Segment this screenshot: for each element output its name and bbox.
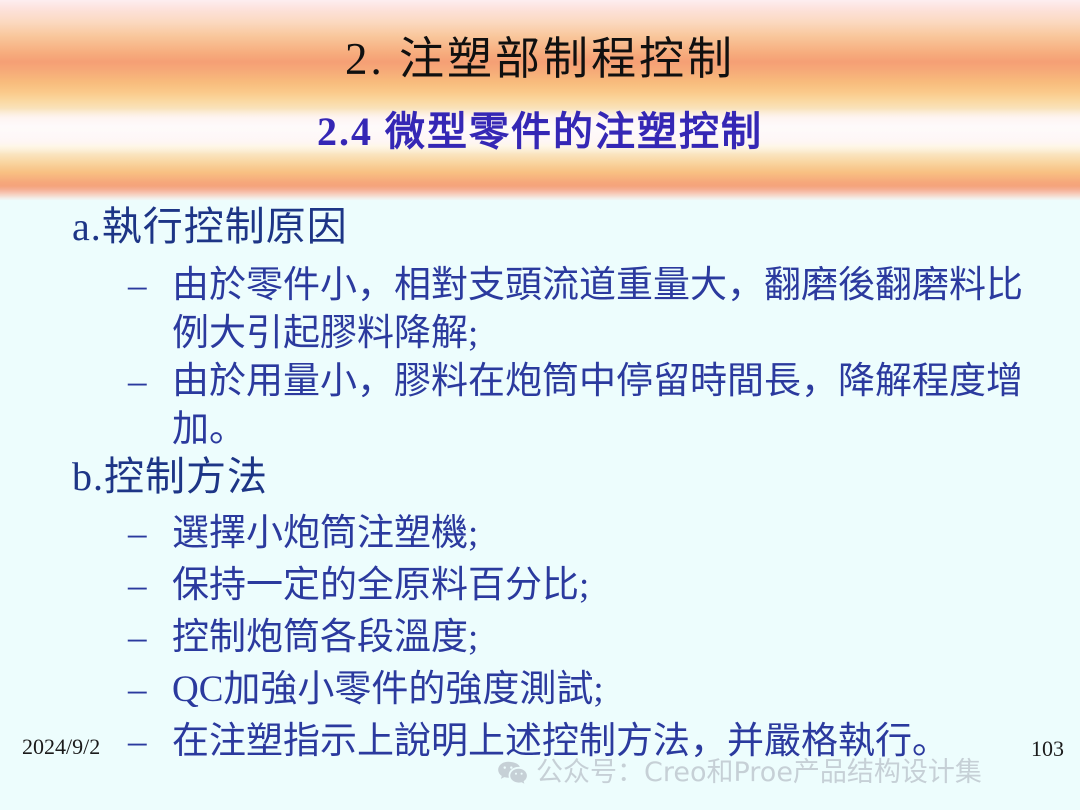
bullet-dash-icon: – — [128, 718, 162, 766]
section-marker-a: a. — [72, 204, 102, 249]
bullet-a-2: – 由於用量小，膠料在炮筒中停留時間長，降解程度增加。 — [128, 358, 1048, 454]
bullet-dash-icon: – — [128, 510, 162, 558]
bullet-text: QC加強小零件的強度測試; — [172, 666, 1048, 714]
bullet-b-2: – 保持一定的全原料百分比; — [128, 562, 1048, 610]
bullet-a-1: – 由於零件小，相對支頭流道重量大，翻磨後翻磨料比例大引起膠料降解; — [128, 262, 1048, 358]
bullet-text: 控制炮筒各段溫度; — [172, 614, 1048, 662]
slide-subtitle: 2.4 微型零件的注塑控制 — [0, 108, 1080, 156]
bullet-b-4: – QC加強小零件的強度測試; — [128, 666, 1048, 714]
footer-date: 2024/9/2 — [22, 734, 100, 760]
bullet-dash-icon: – — [128, 614, 162, 662]
section-title-a: 執行控制原因 — [102, 204, 348, 249]
bullet-b-3: – 控制炮筒各段溫度; — [128, 614, 1048, 662]
section-title-b: 控制方法 — [104, 454, 268, 499]
bullet-text: 由於零件小，相對支頭流道重量大，翻磨後翻磨料比例大引起膠料降解; — [172, 262, 1048, 358]
bullet-text: 選擇小炮筒注塑機; — [172, 510, 1048, 558]
slide-canvas: 2. 注塑部制程控制 2.4 微型零件的注塑控制 a.執行控制原因 – 由於零件… — [0, 0, 1080, 810]
section-heading-a: a.執行控制原因 — [72, 204, 348, 250]
slide-body: a.執行控制原因 – 由於零件小，相對支頭流道重量大，翻磨後翻磨料比例大引起膠料… — [0, 200, 1080, 810]
section-heading-b: b.控制方法 — [72, 454, 268, 500]
bullet-text: 在注塑指示上說明上述控制方法，并嚴格執行。 — [172, 718, 1048, 766]
bullet-b-5: – 在注塑指示上說明上述控制方法，并嚴格執行。 — [128, 718, 1048, 766]
bullet-dash-icon: – — [128, 562, 162, 610]
footer-page-number: 103 — [1031, 736, 1064, 762]
slide-title: 2. 注塑部制程控制 — [0, 32, 1080, 86]
bullet-text: 保持一定的全原料百分比; — [172, 562, 1048, 610]
bullet-dash-icon: – — [128, 358, 162, 406]
header-gradient-band — [0, 0, 1080, 200]
bullet-b-1: – 選擇小炮筒注塑機; — [128, 510, 1048, 558]
section-marker-b: b. — [72, 454, 104, 499]
bullet-text: 由於用量小，膠料在炮筒中停留時間長，降解程度增加。 — [172, 358, 1048, 454]
bullet-dash-icon: – — [128, 666, 162, 714]
bullet-dash-icon: – — [128, 262, 162, 310]
